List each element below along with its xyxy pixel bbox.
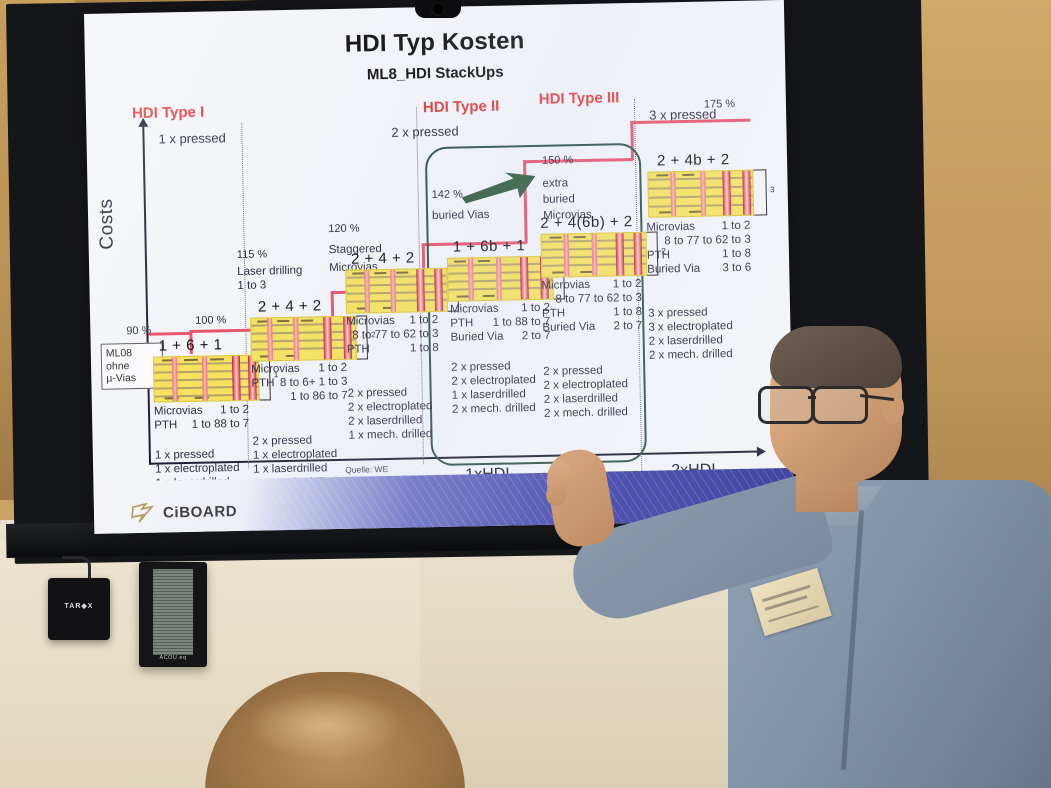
process-item: 1 x mech. drilled [348,427,433,443]
callout-pct-150: 150 % [542,154,573,167]
spec-label: PTH [542,307,565,319]
speaker-grille [153,569,193,655]
spec-value: 1 to 8 [290,389,319,404]
spec-value: 1 to 2 [318,361,347,376]
pct-115: 115 % [237,248,268,261]
spec-value: 8 to 7 [352,328,381,343]
spec-list-4: Microvias 1 to 2 8 to 7 PTH 1 to 8 Burie… [450,301,551,345]
ciboard-logo: CiBOARD [130,499,238,525]
speaker-brand-label: ACOU.eq [139,655,207,661]
bracket-label-6: 3 [770,185,775,194]
annotation-115-line-2: 1 to 3 [237,278,266,293]
pct-175: 175 % [704,98,735,111]
slide-subtitle: ML8_HDI StackUps [85,58,785,89]
spec-value: 1 to 8 [613,305,642,320]
slide-title: HDI Typ Kosten [84,22,784,64]
stackup-graphic-1 [153,355,260,403]
stack-title-4: 1 + 6b + 1 [453,237,526,255]
spec-value: 2 to 3 [722,233,751,248]
spec-value: 6 to 7 [319,389,348,404]
spec-label: Microvias [450,303,499,316]
pct-90: 90 % [126,325,151,338]
spec-value: 7 to 6 [584,291,613,306]
wall-speaker: ACOU.eq [139,562,207,667]
press-label-1: 1 x pressed [158,131,225,146]
spec-value: 1 to 2 [409,313,438,328]
step-line-90 [148,332,190,336]
spec-list-2: Microvias 1 to 2 + 1 to 3 8 to 6 6 to 7 … [251,361,348,405]
y-axis [142,125,151,465]
bracket-6: 3 [753,169,767,215]
spec-list-1: Microvias 1 to 2 8 to 7 PTH 1 to 8 [154,403,250,433]
spec-value: 2 to 3 [410,327,439,342]
presentation-slide: HDI Typ Kosten ML8_HDI StackUps HDI Type… [84,0,794,534]
presenter-hair [770,326,902,388]
spec-value: 7 to 6 [381,328,410,343]
spec-list-5: Microvias 1 to 2 2 to 3 7 to 6 8 to 7 PT… [541,277,642,335]
callout-text-150-line-1: extra [542,176,568,191]
spec-value: 8 to 7 [664,234,693,249]
tarox-brand-label: TAR◆X [48,602,110,610]
callout-pct-142: 142 % [432,188,463,201]
spec-value: 1 to 8 [410,341,439,356]
spec-list-6: Microvias 1 to 2 2 to 3 7 to 6 8 to 7 PT… [646,219,751,277]
spec-value: 1 to 2 [721,219,750,234]
process-list-3: 2 x pressed 2 x electroplated 2 x laserd… [348,385,433,443]
spec-label: Buried Via [450,331,503,344]
baseline-box-line-3: µ-Vias [106,372,158,386]
pct-120: 120 % [328,223,359,236]
spec-value: 8 to 6 [280,376,309,391]
process-item: 2 x mech. drilled [452,401,537,417]
stack-title-5: 2 + 4(6b) + 2 [540,213,633,232]
eyeglasses-right-lens-icon [812,386,868,424]
spec-value: 2 to 7 [613,319,642,334]
presenter-person [700,300,1051,788]
stack-title-2: 2 + 4 + 2 [258,297,322,315]
annotation-115-line-1: Laser drilling [237,264,302,279]
stack-title-1: 1 + 6 + 1 [159,336,223,354]
process-item: 2 x mech. drilled [544,405,629,421]
callout-text-142: buried Vias [432,208,490,223]
conference-room-scene: HDI Typ Kosten ML8_HDI StackUps HDI Type… [0,0,1051,788]
spec-label: Microvias [646,221,695,234]
spec-list-3: Microvias 1 to 2 2 to 3 7 to 6 8 to 7 PT… [346,313,439,357]
webcam-icon [415,0,461,18]
spec-value: 1 to 8 [722,247,751,262]
process-list-5: 2 x pressed 2 x electroplated 2 x laserd… [543,363,628,421]
spec-label: PTH [450,317,473,329]
spec-label: PTH [347,343,370,355]
label-hdi-type-3: HDI Type III [539,89,620,108]
baseline-box-line-2: ohne [106,359,158,373]
stack-title-3: 2 + 4 + 2 [351,249,415,267]
stackup-graphic-6 [647,170,754,218]
spec-label: Microvias [541,279,590,292]
eyeglasses-bridge [808,396,816,399]
spec-label: PTH [647,249,670,261]
ciboard-logo-text: CiBOARD [163,503,238,521]
spec-value: 2 to 3 [613,291,642,306]
spec-value: 1 to 8 [493,315,522,330]
spec-value: 1 to 2 [613,277,642,292]
spec-label: Buried Via [542,321,595,334]
press-label-2: 2 x pressed [391,125,458,140]
spec-label: Microvias [154,405,203,418]
ciboard-swoosh-icon [130,501,156,526]
process-list-4: 2 x pressed 2 x electroplated 1 x laserd… [451,359,536,417]
green-arrow-icon [459,170,538,206]
spec-label: PTH [154,419,177,431]
y-axis-label: Costs [96,198,119,250]
spec-value: 1 to 8 [192,417,221,432]
spec-value: 7 to 6 [693,233,722,248]
spec-value: + 1 to 3 [309,375,348,390]
spec-label: Microvias [251,363,300,376]
stackup-graphic-3 [345,268,448,314]
stackup-graphic-5 [541,232,648,278]
baseline-box-line-1: ML08 [106,347,158,361]
stack-title-6: 2 + 4b + 2 [657,151,730,169]
label-hdi-type-2: HDI Type II [423,98,500,117]
pct-100: 100 % [195,314,226,327]
stackup-graphic-2 [250,316,357,362]
eyeglasses-left-lens-icon [758,386,814,424]
tarox-media-box: TAR◆X [48,578,110,640]
stackup-graphic-4 [447,256,554,302]
callout-text-150-line-2: buried [543,192,575,207]
spec-label: PTH [251,377,274,389]
spec-label: Microvias [346,315,395,328]
spec-value: 8 to 7 [220,417,249,432]
spec-value: 8 to 7 [555,292,584,307]
spec-label: Buried Via [647,263,700,276]
spec-value: 1 to 2 [220,403,249,418]
spec-value: 3 to 6 [722,261,751,276]
source-note: Quelle: WE [345,464,388,475]
